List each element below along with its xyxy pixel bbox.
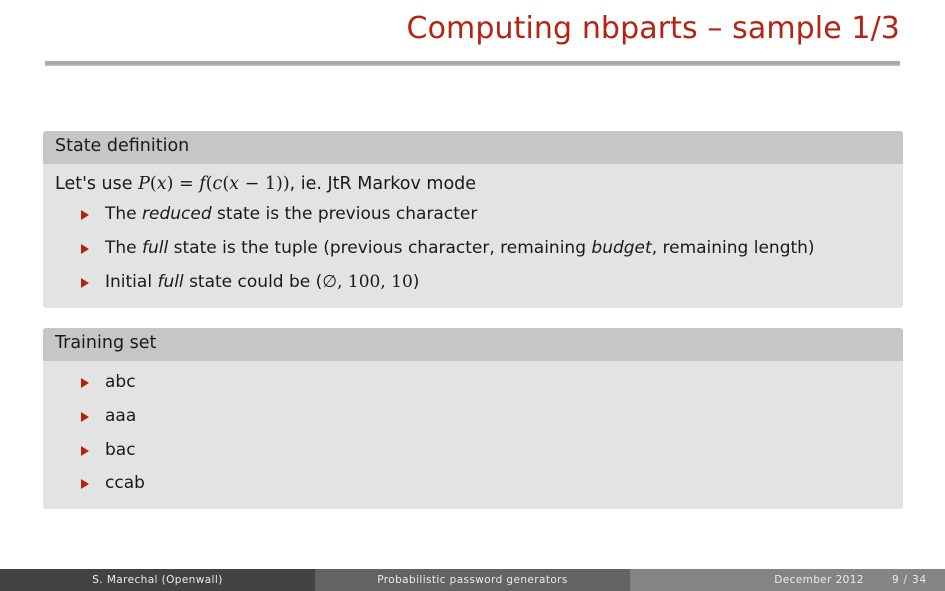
lead-statement: Let's use P(x) = f(c(x − 1)), ie. JtR Ma… bbox=[55, 170, 891, 200]
formula-equals: = bbox=[173, 174, 199, 194]
item-text-post: state could be ( bbox=[184, 272, 323, 292]
list-item: Initial full state could be (∅, 100, 10) bbox=[81, 271, 891, 294]
item-text-pre: The bbox=[105, 204, 142, 224]
training-set-list: abc aaa bac ccab bbox=[55, 371, 891, 496]
block-state-definition: State definition Let's use P(x) = f(c(x … bbox=[43, 131, 903, 308]
item-text-pre: Initial bbox=[105, 272, 157, 292]
item-emphasis: reduced bbox=[142, 204, 212, 224]
formula-paren-open: ( bbox=[150, 174, 157, 194]
slide-footer: S. Marechal (Openwall) Probabilistic pas… bbox=[0, 569, 945, 591]
formula-expression: P(x) = f(c(x − 1)) bbox=[138, 174, 290, 194]
item-text: abc bbox=[105, 372, 136, 392]
formula-paren-close-3: ) bbox=[276, 174, 283, 194]
list-item: aaa bbox=[81, 405, 891, 428]
state-definition-list: The reduced state is the previous charac… bbox=[55, 203, 891, 294]
footer-date-page: December 2012 9 / 34 bbox=[630, 569, 945, 591]
item-text-pre: The bbox=[105, 238, 142, 258]
block-title-state-definition: State definition bbox=[43, 131, 903, 164]
footer-page-number: 9 / 34 bbox=[892, 574, 927, 586]
formula-one: 1 bbox=[265, 174, 276, 194]
triangle-bullet-icon bbox=[81, 412, 89, 422]
title-divider bbox=[45, 61, 900, 66]
page-title: Computing nbparts – sample 1/3 bbox=[0, 12, 900, 47]
item-text: ccab bbox=[105, 473, 145, 493]
list-item: The full state is the tuple (previous ch… bbox=[81, 237, 891, 260]
formula-x-2: x bbox=[229, 174, 239, 194]
formula-paren-open-2: ( bbox=[206, 174, 213, 194]
initial-state-tuple: ∅, 100, 10 bbox=[322, 272, 413, 292]
list-item: The reduced state is the previous charac… bbox=[81, 203, 891, 226]
triangle-bullet-icon bbox=[81, 378, 89, 388]
item-text-post: state is the tuple (previous character, … bbox=[168, 238, 591, 258]
triangle-bullet-icon bbox=[81, 244, 89, 254]
block-title-training-set: Training set bbox=[43, 328, 903, 361]
item-text: aaa bbox=[105, 406, 136, 426]
formula-c: c bbox=[213, 174, 223, 194]
lead-suffix: , ie. JtR Markov mode bbox=[290, 174, 476, 194]
list-item: ccab bbox=[81, 472, 891, 495]
list-item: bac bbox=[81, 439, 891, 462]
lead-prefix: Let's use bbox=[55, 174, 138, 194]
block-training-set: Training set abc aaa bac ccab bbox=[43, 328, 903, 509]
item-emphasis: full bbox=[157, 272, 183, 292]
block-body-state-definition: Let's use P(x) = f(c(x − 1)), ie. JtR Ma… bbox=[43, 164, 903, 308]
item-emphasis: full bbox=[142, 238, 168, 258]
slide-title-area: Computing nbparts – sample 1/3 bbox=[0, 12, 900, 47]
slide-canvas: Computing nbparts – sample 1/3 State def… bbox=[0, 0, 945, 591]
item-text-post-2: ) bbox=[413, 272, 420, 292]
formula-paren-close-2: ) bbox=[283, 174, 290, 194]
triangle-bullet-icon bbox=[81, 479, 89, 489]
item-text-post-2: , remaining length) bbox=[652, 238, 815, 258]
list-item: abc bbox=[81, 371, 891, 394]
formula-P: P bbox=[138, 174, 150, 194]
formula-x: x bbox=[157, 174, 167, 194]
footer-author: S. Marechal (Openwall) bbox=[0, 569, 315, 591]
footer-subject: Probabilistic password generators bbox=[315, 569, 630, 591]
footer-date: December 2012 bbox=[774, 574, 864, 586]
item-text-post: state is the previous character bbox=[212, 204, 478, 224]
item-text: bac bbox=[105, 440, 136, 460]
block-body-training-set: abc aaa bac ccab bbox=[43, 361, 903, 510]
formula-minus: − bbox=[239, 174, 265, 194]
item-emphasis-2: budget bbox=[591, 238, 651, 258]
triangle-bullet-icon bbox=[81, 278, 89, 288]
triangle-bullet-icon bbox=[81, 446, 89, 456]
triangle-bullet-icon bbox=[81, 210, 89, 220]
